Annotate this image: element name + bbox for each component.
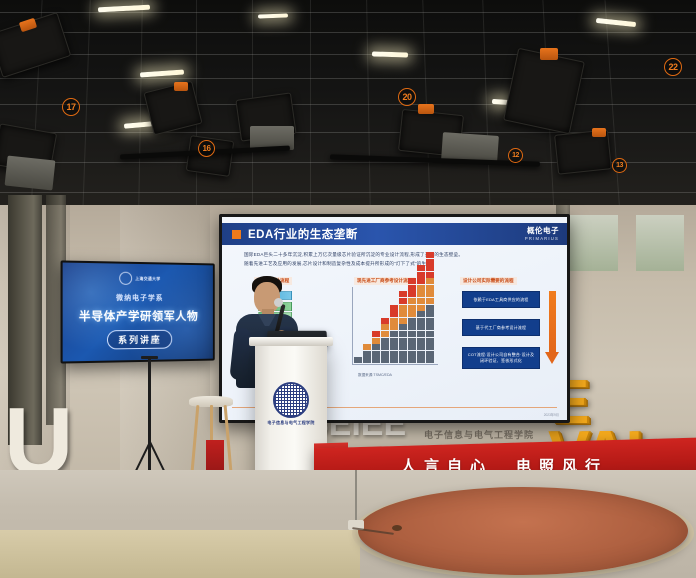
slide-box-3: COT流程:设计公司自有整合·设计及闭环验证、签核形式化 — [462, 347, 540, 369]
chart-bar-segment — [381, 357, 389, 363]
chart-bar-segment — [399, 298, 407, 304]
chart-bar-segment — [399, 357, 407, 363]
round-stage-platform — [358, 487, 688, 575]
chart-bar-segment — [399, 344, 407, 350]
chart-bar-segment — [408, 305, 416, 311]
chart-bar-segment — [426, 291, 434, 297]
chart-bar-segment — [363, 357, 371, 363]
chart-bar-segment — [426, 265, 434, 271]
chart-bar-segment — [372, 357, 380, 363]
chart-bar-segment — [417, 338, 425, 344]
slide-chart: 数据来源:TSMC/EDA — [344, 283, 440, 379]
floor-object — [392, 525, 402, 531]
truss-number-22: 22 — [664, 58, 682, 76]
stage-lamp-yoke — [592, 128, 606, 137]
chart-bar-segment — [417, 324, 425, 330]
lectern-department-name: 电子信息与电气工程学院 — [255, 420, 327, 426]
chart-bar-segment — [399, 311, 407, 317]
chart-bar-segment — [408, 338, 416, 344]
chart-bar-column — [390, 305, 398, 364]
chart-bar-segment — [408, 291, 416, 297]
window — [636, 215, 684, 271]
chart-bar-segment — [426, 351, 434, 357]
chart-bar-segment — [390, 338, 398, 344]
chart-bar-segment — [408, 344, 416, 350]
chart-bar-segment — [363, 351, 371, 357]
truss-number-12: 12 — [508, 148, 523, 163]
chart-bar-segment — [381, 331, 389, 337]
chart-bar-segment — [426, 344, 434, 350]
chart-bar-segment — [408, 324, 416, 330]
chart-bar-segment — [372, 338, 380, 344]
chart-bar-column — [381, 318, 389, 364]
stage-lamp-yoke — [540, 48, 558, 60]
chart-bar-segment — [399, 338, 407, 344]
ceiling-light — [258, 13, 288, 18]
chart-bar-segment — [417, 311, 425, 317]
slide-box-2: 基于代工厂商参考设计流程 — [462, 319, 540, 336]
slide-footer-text: 2023年9月 — [544, 412, 559, 417]
chart-bar-segment — [417, 344, 425, 350]
chart-bar-segment — [399, 331, 407, 337]
chart-bar-segment — [390, 331, 398, 337]
chart-bar-segment — [426, 318, 434, 324]
seiee-emblem-icon — [273, 382, 309, 418]
chart-bar-segment — [417, 278, 425, 284]
chart-bar-column — [417, 265, 425, 364]
slide-logo-cn: 概伦电子 — [525, 225, 559, 236]
ceiling-light — [372, 51, 408, 57]
slide-title: EDA行业的生态垄断 — [248, 226, 358, 242]
chart-bar-column — [363, 344, 371, 364]
chart-bar-segment — [417, 318, 425, 324]
slide-logo-en: PRIMARIUS — [525, 236, 559, 241]
chart-bar-segment — [417, 305, 425, 311]
chart-bar-segment — [408, 311, 416, 317]
chart-bar-segment — [399, 305, 407, 311]
slide-body-line: 随着先进工艺及应用的发展,芯片设计和制造复杂性及成本提升所形成的“灯下了式”的生… — [244, 260, 555, 269]
chart-bar-segment — [408, 278, 416, 284]
poster-line-series: 系列讲座 — [107, 330, 172, 350]
event-poster: 上海交通大学 微纳电子学系 半导体产学研领军人物 系列讲座 — [61, 260, 215, 363]
truss-number-13: 13 — [612, 158, 627, 173]
photo-scene: 17 16 20 22 12 13 U SEIEE 电子信息与电气工程学院 E … — [0, 0, 696, 578]
chart-bar-segment — [417, 351, 425, 357]
slide-body-line: 国际EDA巨头二十多年沉淀,积累上万亿次量级芯片验证所沉淀的专业设计流程,形成了… — [244, 251, 555, 260]
chart-bar-segment — [426, 259, 434, 265]
chart-bar-segment — [417, 272, 425, 278]
chart-bar-segment — [381, 351, 389, 357]
chart-bar-segment — [417, 291, 425, 297]
chart-bar-segment — [399, 324, 407, 330]
chart-bar-segment — [381, 344, 389, 350]
chart-bar-segment — [390, 305, 398, 311]
ceiling-light — [596, 18, 636, 27]
chart-bar-segment — [399, 318, 407, 324]
stage-lamp-body — [5, 156, 56, 191]
chart-bar-column — [408, 278, 416, 364]
chart-bar-segment — [426, 311, 434, 317]
stage-lamp-yoke — [174, 82, 188, 91]
chart-bar-column — [372, 331, 380, 364]
chart-x-axis — [352, 364, 438, 365]
chart-bar-segment — [417, 265, 425, 271]
wall-department-name: 电子信息与电气工程学院 — [424, 428, 534, 441]
chart-bar-segment — [390, 318, 398, 324]
lectern-top — [249, 337, 333, 346]
chart-bar-segment — [399, 291, 407, 297]
chart-bar-segment — [417, 357, 425, 363]
slide-header-bar: EDA行业的生态垄断 — [222, 223, 567, 245]
slide-column-heading-3: 设计公司实际需要的流程 — [460, 277, 517, 285]
chart-bar-segment — [408, 357, 416, 363]
chart-bar-segment — [426, 338, 434, 344]
stage-lamp — [503, 48, 585, 135]
chart-bar-segment — [417, 331, 425, 337]
ceiling-area: 17 16 20 22 12 13 — [0, 0, 696, 215]
chart-bar-segment — [408, 351, 416, 357]
chart-bar-segment — [408, 285, 416, 291]
window — [566, 215, 618, 271]
slide-down-arrow-shaft — [549, 291, 556, 353]
chart-bar-segment — [390, 311, 398, 317]
chart-bar-column — [426, 252, 434, 364]
chart-bar-segment — [390, 344, 398, 350]
chart-bar-segment — [354, 357, 362, 363]
chart-bar-segment — [426, 324, 434, 330]
chart-source-note: 数据来源:TSMC/EDA — [358, 373, 392, 378]
slide-accent-square-icon — [232, 230, 241, 239]
chart-bar-segment — [426, 252, 434, 258]
poster-line-title: 半导体产学研领军人物 — [63, 308, 213, 324]
poster-line-department: 微纳电子学系 — [63, 292, 213, 303]
stage-lamp-yoke — [418, 104, 434, 114]
chart-bar-segment — [426, 272, 434, 278]
mic-stand-pole — [355, 470, 357, 522]
slide-down-arrow-head — [545, 352, 559, 364]
chart-bar-segment — [363, 344, 371, 350]
chart-bar-segment — [381, 324, 389, 330]
chart-bar-segment — [390, 324, 398, 330]
chart-bar-segment — [417, 285, 425, 291]
poster-university-logo: 上海交通大学 — [119, 272, 160, 286]
chart-y-axis — [352, 287, 353, 365]
chart-bar-column — [399, 291, 407, 364]
chart-bar-segment — [408, 331, 416, 337]
chart-bar-segment — [408, 318, 416, 324]
chart-bar-segment — [399, 351, 407, 357]
truss-number-17: 17 — [62, 98, 80, 116]
chart-bar-segment — [426, 305, 434, 311]
poster-university-name: 上海交通大学 — [135, 275, 160, 281]
slide-box-1: 依赖于EDA工具商供应的流程 — [462, 291, 540, 308]
chart-bar-segment — [381, 318, 389, 324]
slide-body-text: 国际EDA巨头二十多年沉淀,积累上万亿次量级芯片验证所沉淀的专业设计流程,形成了… — [244, 251, 555, 268]
chart-bar-segment — [426, 357, 434, 363]
ceiling-light — [140, 69, 184, 77]
chart-bar-segment — [426, 331, 434, 337]
chart-bar-segment — [372, 344, 380, 350]
university-seal-icon — [119, 272, 132, 285]
truss-number-16: 16 — [198, 140, 215, 157]
chart-bar-segment — [426, 278, 434, 284]
chart-bar-segment — [408, 298, 416, 304]
chart-bar-segment — [372, 331, 380, 337]
microphone-head-icon — [274, 298, 283, 307]
stage-lamp — [143, 81, 202, 136]
chart-bar-segment — [417, 298, 425, 304]
chart-bar-segment — [390, 357, 398, 363]
stage-front-edge — [0, 530, 360, 578]
chart-bar-column — [354, 357, 362, 364]
chart-bar-segment — [426, 298, 434, 304]
chart-bar-segment — [390, 351, 398, 357]
chart-bar-segment — [372, 351, 380, 357]
truss-number-20: 20 — [398, 88, 416, 106]
chart-bar-segment — [381, 338, 389, 344]
chart-bar-segment — [426, 285, 434, 291]
slide-company-logo: 概伦电子 PRIMARIUS — [525, 225, 559, 241]
